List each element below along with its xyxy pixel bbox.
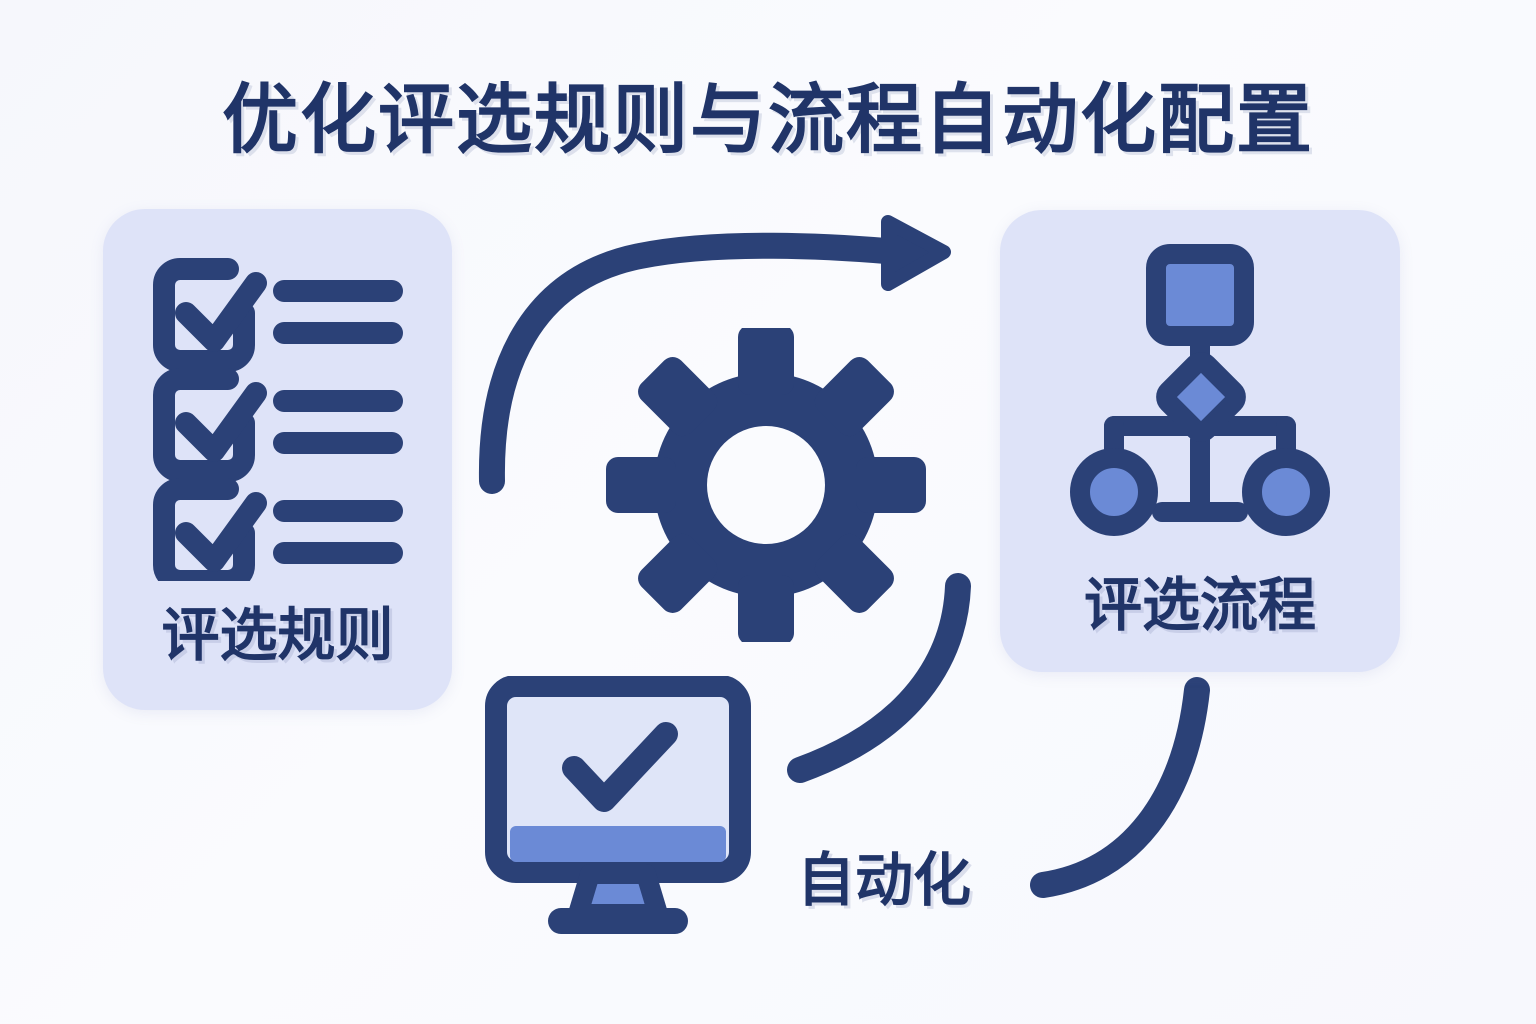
gear-icon-container: [594, 328, 938, 647]
monitor-icon-container: [482, 676, 754, 949]
gear-icon: [594, 328, 938, 642]
page-title: 优化评选规则与流程自动化配置: [0, 58, 1536, 168]
flowchart-icon: [1050, 240, 1350, 550]
infographic-canvas: 优化评选规则与流程自动化配置 评选规则: [0, 0, 1536, 1024]
flow-node-circle-right: [1252, 458, 1320, 526]
card-selection-process[interactable]: 评选流程: [1000, 210, 1400, 672]
card-label-selection-process: 评选流程: [1000, 558, 1400, 642]
automation-to-flow-curve: [1043, 690, 1197, 885]
annotation-automation: 自动化: [797, 833, 971, 917]
monitor-check-icon: [482, 676, 754, 944]
card-label-selection-rules: 评选规则: [103, 588, 452, 672]
checklist-icon: [152, 257, 404, 581]
flow-node-rectangle: [1156, 254, 1244, 336]
card-selection-rules[interactable]: 评选规则: [103, 209, 452, 710]
flow-node-circle-left: [1080, 458, 1148, 526]
